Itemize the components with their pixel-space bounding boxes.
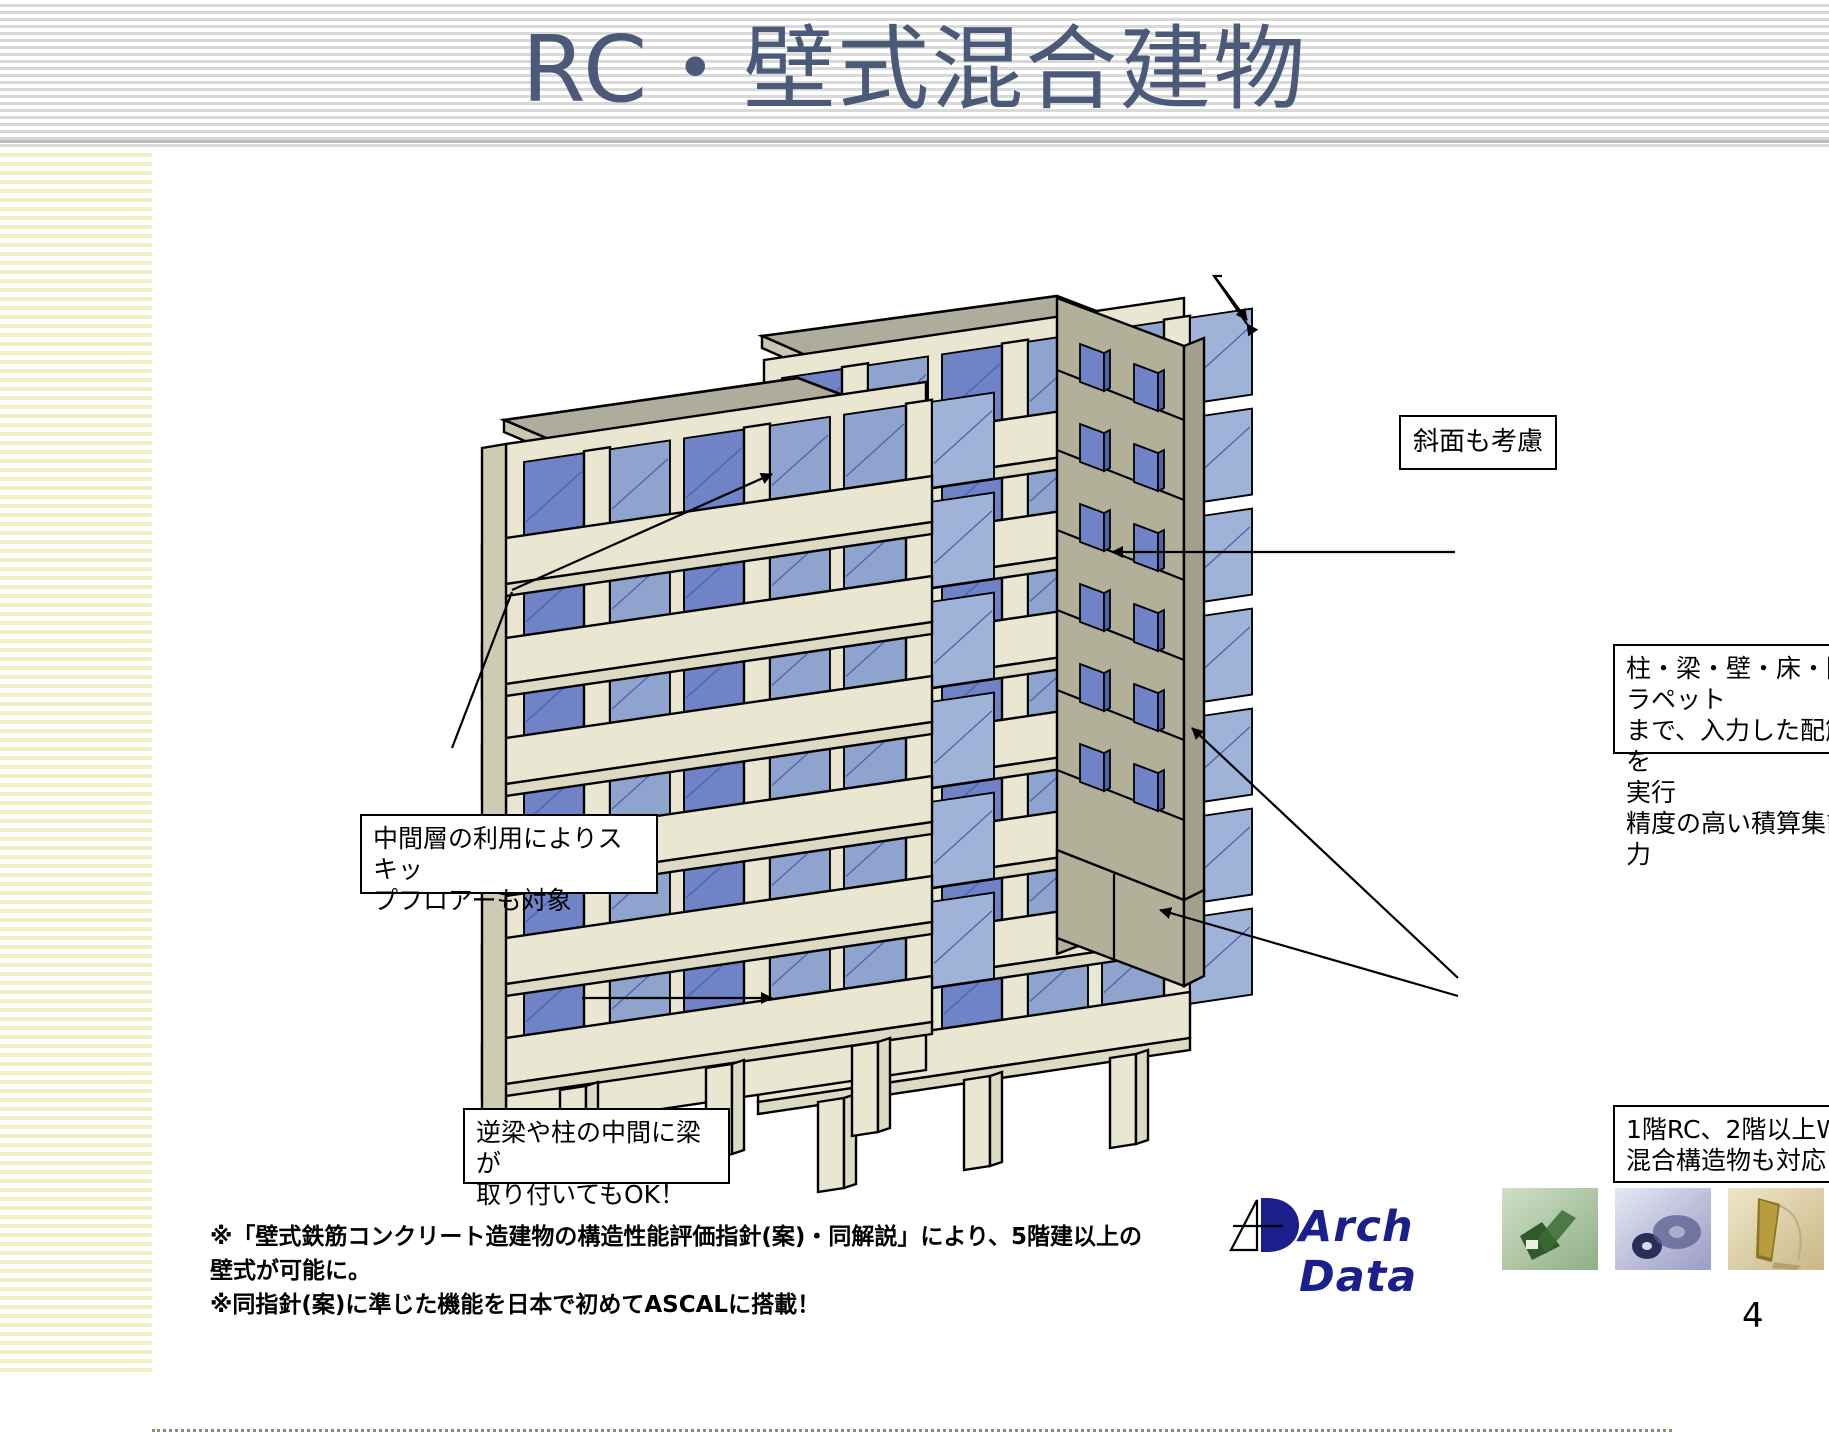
rear-tower-side-wall: [1057, 298, 1204, 986]
sidebar-decorative-stripe: [0, 148, 152, 1372]
callout-estimate: 柱・梁・壁・床・階段・パラペット まで、入力した配筋で積算を 実行 精度の高い積…: [1613, 644, 1829, 754]
cd-disc-photo: [1615, 1188, 1711, 1270]
arch-data-logo: Arch Data: [1227, 1194, 1477, 1260]
floppy-disk-photo: [1502, 1188, 1598, 1270]
slide-content-canvas: .w { fill:#e9e7d2; stroke:#000; stroke-w…: [152, 148, 1829, 1372]
arch-data-logo-text: Arch Data: [1299, 1202, 1477, 1302]
arch-data-logo-mark: [1227, 1196, 1301, 1254]
callout-mixed: 1階RC、2階以上WRC等 混合構造物も対応: [1613, 1105, 1829, 1183]
callout-skip: 中間層の利用によりスキッ プフロアーも対象: [360, 814, 658, 894]
front-tower-facade: [482, 382, 994, 1180]
callout-beam: 逆梁や柱の中間に梁が 取り付いてもOK！: [463, 1108, 730, 1184]
page-number: 4: [1742, 1296, 1764, 1336]
page-title: RC・壁式混合建物: [0, 18, 1829, 122]
callout-slope: 斜面も考慮: [1399, 415, 1557, 470]
footnote-text: ※「壁式鉄筋コンクリート造建物の構造性能評価指針(案)・同解説」により、5階建以…: [210, 1220, 1160, 1322]
keyboard-photo: [1728, 1188, 1824, 1270]
header-divider-rule: [0, 140, 1829, 143]
